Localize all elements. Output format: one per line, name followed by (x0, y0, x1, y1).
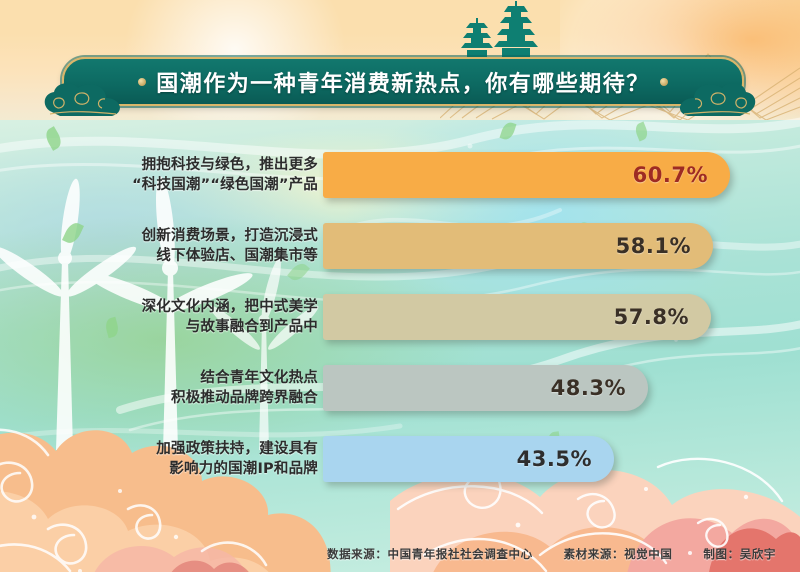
banner-dot-left-icon (138, 78, 146, 86)
footer-material-source: 素材来源：视觉中国 (564, 547, 673, 561)
bar-label: 拥抱科技与绿色，推出更多 “科技国潮”“绿色国潮”产品 (68, 155, 318, 195)
footer-data-source: 数据来源：中国青年报社社会调查中心 (327, 547, 533, 561)
bar-label-line1: 加强政策扶持，建设具有 (68, 439, 318, 459)
infographic-canvas: 国潮作为一种青年消费新热点，你有哪些期待？ 拥抱科技与绿色，推出更多 “科技国潮… (0, 0, 800, 572)
bar-value: 48.3% (551, 376, 626, 400)
title-banner: 国潮作为一种青年消费新热点，你有哪些期待？ (62, 57, 744, 106)
chart-row: 深化文化内涵，把中式美学 与故事融合到产品中 57.8% (0, 294, 800, 340)
bar: 48.3% (323, 365, 648, 411)
bar-label-line1: 拥抱科技与绿色，推出更多 (68, 155, 318, 175)
bar: 58.1% (323, 223, 713, 269)
bar-label-line2: “科技国潮”“绿色国潮”产品 (68, 175, 318, 195)
bar-label-line1: 深化文化内涵，把中式美学 (68, 297, 318, 317)
chart-row: 加强政策扶持，建设具有 影响力的国潮IP和品牌 43.5% (0, 436, 800, 482)
bar-label: 深化文化内涵，把中式美学 与故事融合到产品中 (68, 297, 318, 337)
page-title: 国潮作为一种青年消费新热点，你有哪些期待？ (156, 66, 650, 98)
chart-row: 拥抱科技与绿色，推出更多 “科技国潮”“绿色国潮”产品 60.7% (0, 152, 800, 198)
bar-label: 加强政策扶持，建设具有 影响力的国潮IP和品牌 (68, 439, 318, 479)
bar: 57.8% (323, 294, 711, 340)
bar-value: 43.5% (517, 447, 592, 471)
chart-row: 创新消费场景，打造沉浸式 线下体验店、国潮集市等 58.1% (0, 223, 800, 269)
bar-label-line2: 积极推动品牌跨界融合 (68, 388, 318, 408)
bar-label-line1: 结合青年文化热点 (68, 368, 318, 388)
bar-label-line2: 线下体验店、国潮集市等 (68, 246, 318, 266)
bar-value: 58.1% (616, 234, 691, 258)
bar-value: 57.8% (614, 305, 689, 329)
bar-label-line2: 影响力的国潮IP和品牌 (68, 459, 318, 479)
bar: 43.5% (323, 436, 614, 482)
bar: 60.7% (323, 152, 730, 198)
footer-credits: 数据来源：中国青年报社社会调查中心 素材来源：视觉中国 制图：吴欣宇 (0, 545, 800, 563)
footer-credit: 制图：吴欣宇 (703, 547, 776, 561)
bar-label-line2: 与故事融合到产品中 (68, 317, 318, 337)
chart-row: 结合青年文化热点 积极推动品牌跨界融合 48.3% (0, 365, 800, 411)
bar-label: 结合青年文化热点 积极推动品牌跨界融合 (68, 368, 318, 408)
bar-label: 创新消费场景，打造沉浸式 线下体验店、国潮集市等 (68, 226, 318, 266)
bar-label-line1: 创新消费场景，打造沉浸式 (68, 226, 318, 246)
bar-value: 60.7% (633, 163, 708, 187)
banner-dot-right-icon (660, 78, 668, 86)
